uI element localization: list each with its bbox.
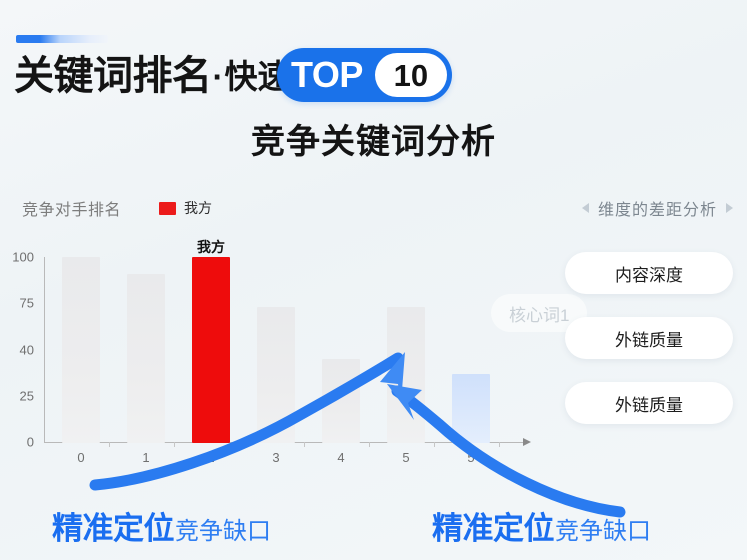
caret-left-icon	[582, 203, 589, 213]
x-tick-label: 1	[142, 450, 149, 465]
caption-right-weak: 竞争缺口	[555, 511, 651, 546]
bar-4[interactable]	[322, 359, 360, 443]
top-pill-badge-value: 10	[394, 60, 428, 91]
bar-3[interactable]	[257, 307, 295, 443]
legend-item-ours: 我方	[159, 198, 212, 218]
x-tick-label: 3	[272, 450, 279, 465]
page-subtitle: 竞争关键词分析	[0, 114, 747, 163]
caption-left-strong: 精准定位	[52, 503, 174, 548]
bar-2-label: 我方	[197, 237, 225, 257]
headline-main-text: 关键词排名	[14, 56, 212, 96]
caption-right-strong: 精准定位	[432, 503, 554, 548]
top-rank-pill: TOP 10	[277, 48, 452, 102]
y-tick-label: 75	[20, 296, 34, 311]
bar-0[interactable]	[62, 257, 100, 443]
caption-right: 精准定位 竞争缺口	[432, 503, 651, 548]
slide-canvas: 关键词排名 · 快速 TOP 10 竞争关键词分析 竞争对手排名 我方 维度的差…	[0, 0, 747, 560]
x-tick-label: 5	[467, 450, 474, 465]
dimension-card[interactable]: 外链质量	[565, 317, 733, 359]
headline-dot: ·	[213, 60, 224, 93]
headline: 关键词排名 · 快速	[14, 48, 291, 104]
x-tick-label: 5	[402, 450, 409, 465]
top-pill-label: TOP	[291, 57, 363, 93]
y-tick-label: 40	[20, 343, 34, 358]
x-axis-arrow-icon	[523, 438, 531, 446]
dimension-card[interactable]: 外链质量	[565, 382, 733, 424]
accent-progress-bar	[16, 35, 108, 43]
legend-swatch-icon	[159, 202, 176, 215]
dimension-card[interactable]: 内容深度	[565, 252, 733, 294]
bar-6-gap[interactable]	[452, 374, 490, 443]
y-tick-label: 0	[27, 435, 34, 450]
x-tick-label: 4	[337, 450, 344, 465]
y-tick-label: 25	[20, 389, 34, 404]
bar-chart: 100 75 40 25 0 我方 0 1 2 3 4	[0, 235, 540, 480]
y-axis-labels: 100 75 40 25 0	[0, 235, 42, 435]
dimension-card-list: 内容深度 外链质量 外链质量	[565, 252, 733, 447]
chart-legend: 竞争对手排名 我方	[22, 196, 212, 220]
bar-2-ours[interactable]	[192, 257, 230, 443]
caption-left-weak: 竞争缺口	[175, 511, 271, 546]
bar-1[interactable]	[127, 274, 165, 443]
bar-5[interactable]	[387, 307, 425, 443]
y-tick-label: 100	[12, 250, 34, 265]
top-pill-badge: 10	[375, 53, 447, 97]
x-tick-label: 0	[77, 450, 84, 465]
caret-right-icon	[726, 203, 733, 213]
legend-title: 竞争对手排名	[22, 196, 121, 220]
caption-left: 精准定位 竞争缺口	[52, 503, 271, 548]
panel-header-title: 维度的差距分析	[598, 196, 717, 220]
x-tick-label: 2	[207, 450, 214, 465]
panel-header: 维度的差距分析	[582, 196, 733, 220]
legend-item-label: 我方	[184, 198, 212, 218]
plot-area: 我方	[45, 257, 515, 443]
